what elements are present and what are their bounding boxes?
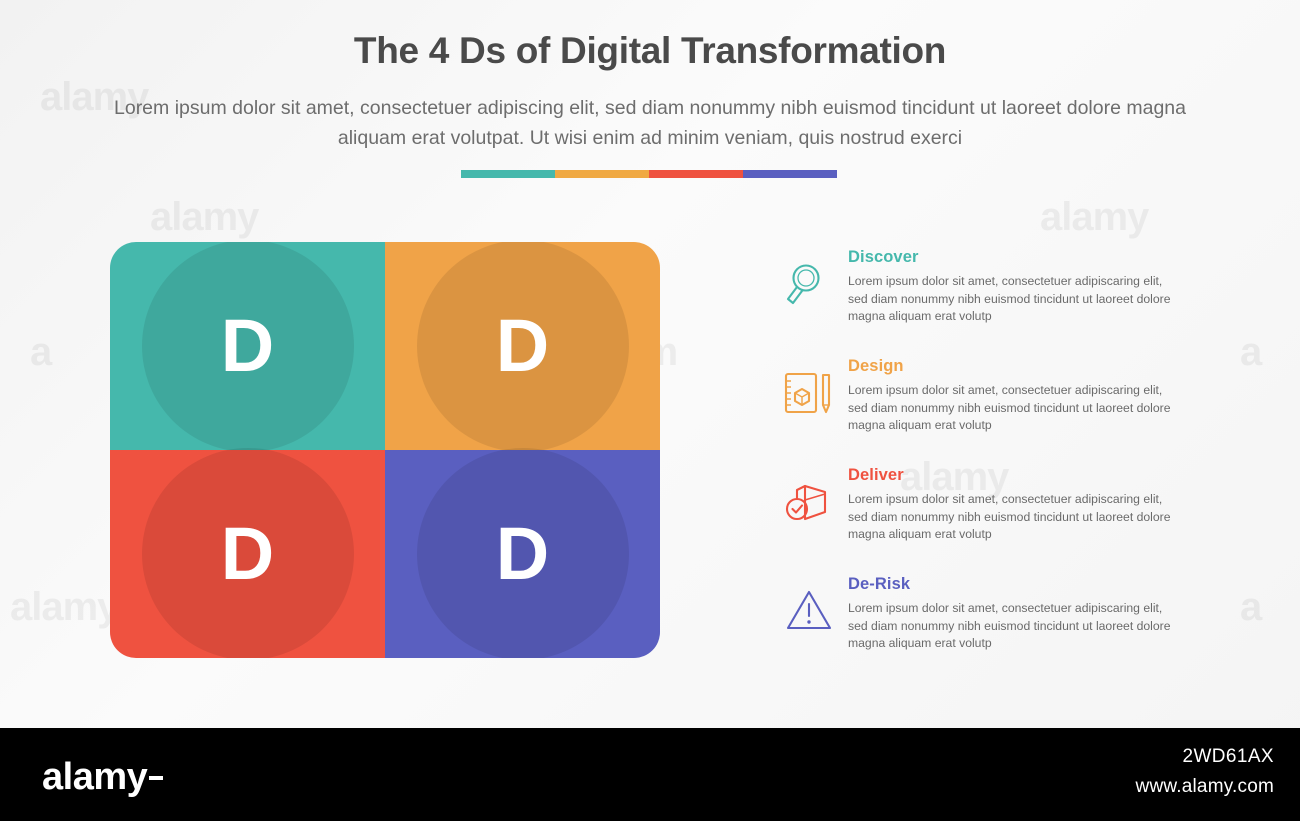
page-title: The 4 Ds of Digital Transformation (0, 30, 1300, 72)
list-item-title: Design (848, 357, 1210, 376)
quadrant-deliver[interactable]: D (110, 450, 385, 658)
page-subtitle: Lorem ipsum dolor sit amet, consectetuer… (90, 93, 1210, 153)
quadrant-discover[interactable]: D (110, 242, 385, 450)
list-item-title: Deliver (848, 466, 1210, 485)
list-item[interactable]: De-RiskLorem ipsum dolor sit amet, conse… (770, 573, 1210, 682)
list-item-body: Lorem ipsum dolor sit amet, consectetuer… (848, 491, 1180, 544)
alamy-logo: alamy (42, 756, 163, 799)
quadrant-letter: D (221, 517, 274, 591)
watermark-text: a (30, 330, 51, 375)
watermark-text: alamy (1040, 195, 1148, 240)
rule-segment-1 (461, 170, 555, 178)
list-item-title: Discover (848, 248, 1210, 267)
magnifier-icon (770, 246, 848, 310)
logo-dash (149, 776, 163, 780)
description-list: DiscoverLorem ipsum dolor sit amet, cons… (770, 246, 1210, 682)
image-id: 2WD61AX (1182, 746, 1274, 768)
list-item-text: DeliverLorem ipsum dolor sit amet, conse… (848, 464, 1210, 544)
list-item-text: De-RiskLorem ipsum dolor sit amet, conse… (848, 573, 1210, 653)
color-rule (461, 170, 837, 178)
list-item[interactable]: DiscoverLorem ipsum dolor sit amet, cons… (770, 246, 1210, 355)
rule-segment-2 (555, 170, 649, 178)
stock-footer: alamy 2WD61AX www.alamy.com (0, 728, 1300, 821)
quadrant-de-risk[interactable]: D (385, 450, 660, 658)
rule-segment-3 (649, 170, 743, 178)
list-item-body: Lorem ipsum dolor sit amet, consectetuer… (848, 382, 1180, 435)
four-quadrant-matrix: DDDD (110, 242, 660, 658)
watermark-text: a (1240, 330, 1261, 375)
list-item-text: DiscoverLorem ipsum dolor sit amet, cons… (848, 246, 1210, 326)
warning-triangle-icon (770, 573, 848, 637)
quadrant-letter: D (496, 517, 549, 591)
site-url: www.alamy.com (1136, 776, 1274, 798)
infographic-canvas: alamyalamyaalamyalamaaaaalamyaalamy The … (0, 0, 1300, 821)
list-item[interactable]: DesignLorem ipsum dolor sit amet, consec… (770, 355, 1210, 464)
list-item-text: DesignLorem ipsum dolor sit amet, consec… (848, 355, 1210, 435)
watermark-text: a (1240, 585, 1261, 630)
list-item-body: Lorem ipsum dolor sit amet, consectetuer… (848, 273, 1180, 326)
drafting-pencil-icon (770, 355, 848, 419)
list-item-body: Lorem ipsum dolor sit amet, consectetuer… (848, 600, 1180, 653)
rule-segment-4 (743, 170, 837, 178)
list-item[interactable]: DeliverLorem ipsum dolor sit amet, conse… (770, 464, 1210, 573)
list-item-title: De-Risk (848, 575, 1210, 594)
quadrant-design[interactable]: D (385, 242, 660, 450)
watermark-text: alamy (150, 195, 258, 240)
quadrant-letter: D (496, 309, 549, 383)
watermark-text: alamy (10, 585, 118, 630)
quadrant-letter: D (221, 309, 274, 383)
package-box-icon (770, 464, 848, 528)
